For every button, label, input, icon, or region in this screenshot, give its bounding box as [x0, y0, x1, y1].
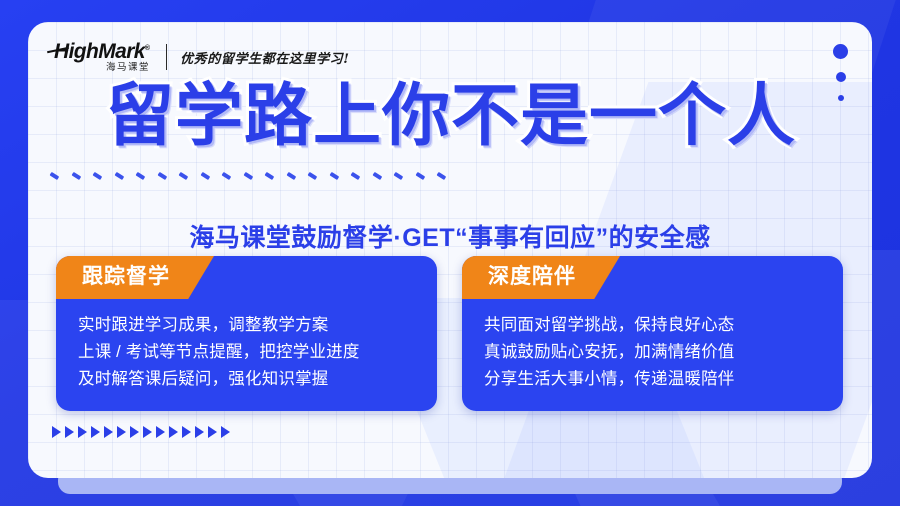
card-body: 实时跟进学习成果，调整教学方案 上课 / 考试等节点提醒，把控学业进度 及时解答…	[56, 299, 437, 410]
content-panel: HighMark® 海马课堂 优秀的留学生都在这里学习! 留学路上你不是一个人 …	[28, 22, 872, 478]
feature-card: 跟踪督学 实时跟进学习成果，调整教学方案 上课 / 考试等节点提醒，把控学业进度…	[56, 256, 437, 411]
card-tab-label: 深度陪伴	[462, 256, 620, 299]
triangle-right-icon	[104, 426, 113, 438]
brand-wordmark-text: HighMark	[54, 40, 145, 63]
card-body-line: 及时解答课后疑问，强化知识掌握	[78, 366, 417, 393]
card-body-line: 分享生活大事小情，传递温暖陪伴	[484, 366, 823, 393]
brand-divider	[166, 44, 167, 70]
triangle-right-icon	[182, 426, 191, 438]
headline: 留学路上你不是一个人	[46, 80, 856, 153]
card-body-line: 实时跟进学习成果，调整教学方案	[78, 312, 417, 339]
brand-row: HighMark® 海马课堂 优秀的留学生都在这里学习!	[54, 36, 350, 78]
triangle-right-icon	[221, 426, 230, 438]
poster-canvas: HighMark® 海马课堂 优秀的留学生都在这里学习! 留学路上你不是一个人 …	[0, 0, 900, 506]
brand-logo: HighMark® 海马课堂	[54, 37, 150, 77]
corner-dot-decoration	[833, 44, 848, 101]
trademark-icon: ®	[145, 45, 150, 52]
triangle-right-icon	[52, 426, 61, 438]
arrow-decoration-row	[52, 426, 230, 438]
triangle-right-icon	[156, 426, 165, 438]
triangle-right-icon	[195, 426, 204, 438]
brand-cn-name: 海马课堂	[54, 63, 150, 73]
subtitle: 海马课堂鼓励督学·GET“事事有回应”的安全感	[28, 218, 872, 254]
feature-cards: 跟踪督学 实时跟进学习成果，调整教学方案 上课 / 考试等节点提醒，把控学业进度…	[56, 256, 844, 411]
triangle-right-icon	[78, 426, 87, 438]
triangle-right-icon	[130, 426, 139, 438]
triangle-right-icon	[208, 426, 217, 438]
dot-large-icon	[833, 44, 848, 59]
card-tab-label: 跟踪督学	[56, 256, 214, 299]
card-body-line: 上课 / 考试等节点提醒，把控学业进度	[78, 339, 417, 366]
triangle-right-icon	[143, 426, 152, 438]
brand-tagline: 优秀的留学生都在这里学习!	[180, 48, 350, 67]
dot-medium-icon	[836, 72, 846, 82]
card-body-line: 共同面对留学挑战，保持良好心态	[484, 312, 823, 339]
brand-wordmark: HighMark®	[54, 41, 150, 62]
triangle-right-icon	[117, 426, 126, 438]
slash-divider	[50, 174, 446, 178]
triangle-right-icon	[65, 426, 74, 438]
card-body-line: 真诚鼓励贴心安抚，加满情绪价值	[484, 339, 823, 366]
triangle-right-icon	[169, 426, 178, 438]
triangle-right-icon	[91, 426, 100, 438]
card-body: 共同面对留学挑战，保持良好心态 真诚鼓励贴心安抚，加满情绪价值 分享生活大事小情…	[462, 299, 843, 410]
feature-card: 深度陪伴 共同面对留学挑战，保持良好心态 真诚鼓励贴心安抚，加满情绪价值 分享生…	[462, 256, 843, 411]
dot-small-icon	[838, 95, 844, 101]
